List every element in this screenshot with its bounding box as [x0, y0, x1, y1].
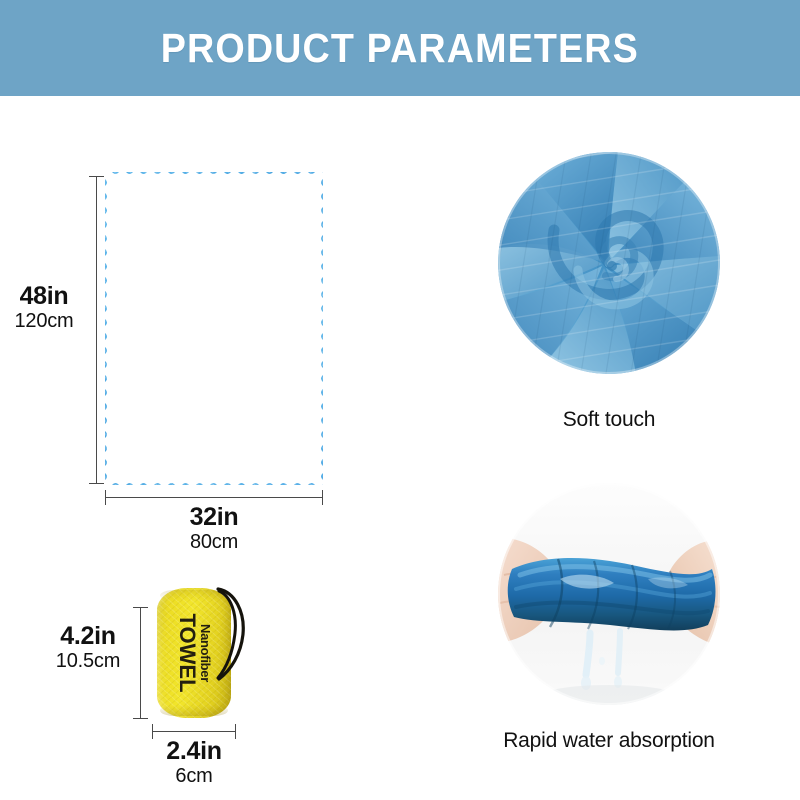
towel-height-cap-bottom	[89, 483, 104, 484]
header-banner: PRODUCT PARAMETERS	[0, 0, 800, 96]
towel-height-metric: 120cm	[0, 310, 88, 332]
feature-photo-water-absorption	[498, 483, 720, 705]
towel-image	[105, 172, 323, 485]
towel-width-imperial: 32in	[114, 503, 314, 531]
wringing-towel-illustration	[498, 483, 720, 705]
pouch-height-label: 4.2in 10.5cm	[42, 622, 134, 672]
pouch-height-cap-top	[133, 607, 148, 608]
pouch-height-cap-bottom	[133, 718, 148, 719]
pouch-seam-bottom	[160, 705, 228, 716]
pouch-height-dimension-line	[140, 607, 141, 718]
pouch-width-metric: 6cm	[109, 765, 279, 787]
pouch-width-dimension-line	[152, 731, 236, 732]
caption-soft-touch: Soft touch	[459, 408, 759, 432]
towel-width-cap-right	[322, 490, 323, 505]
product-parameters-page: PRODUCT PARAMETERS	[0, 0, 800, 800]
pouch-height-imperial: 4.2in	[42, 622, 134, 650]
towel-width-label: 32in 80cm	[114, 503, 314, 553]
pouch-width-label: 2.4in 6cm	[109, 737, 279, 787]
pouch-width-imperial: 2.4in	[109, 737, 279, 765]
towel-height-imperial: 48in	[0, 282, 88, 310]
towel-width-metric: 80cm	[114, 531, 314, 553]
towel-height-label: 48in 120cm	[0, 282, 88, 332]
towel-width-dimension-line	[105, 497, 323, 498]
pouch-seam-top	[160, 590, 228, 601]
page-title: PRODUCT PARAMETERS	[161, 28, 639, 69]
caption-water-absorption: Rapid water absorption	[459, 729, 759, 753]
pouch-image: Nanofiber TOWEL	[157, 588, 231, 718]
towel-height-cap-top	[89, 176, 104, 177]
towel-fabric-surface	[105, 172, 323, 485]
feature-photo-soft-touch	[498, 152, 720, 374]
towel-height-dimension-line	[96, 176, 97, 483]
pouch-height-metric: 10.5cm	[42, 650, 134, 672]
pouch-brand-text: Nanofiber	[199, 613, 212, 692]
pouch-printed-label: Nanofiber TOWEL	[176, 613, 212, 692]
towel-width-cap-left	[105, 490, 106, 505]
fabric-swirl-illustration	[498, 152, 720, 374]
pouch-product-text: TOWEL	[176, 613, 198, 692]
